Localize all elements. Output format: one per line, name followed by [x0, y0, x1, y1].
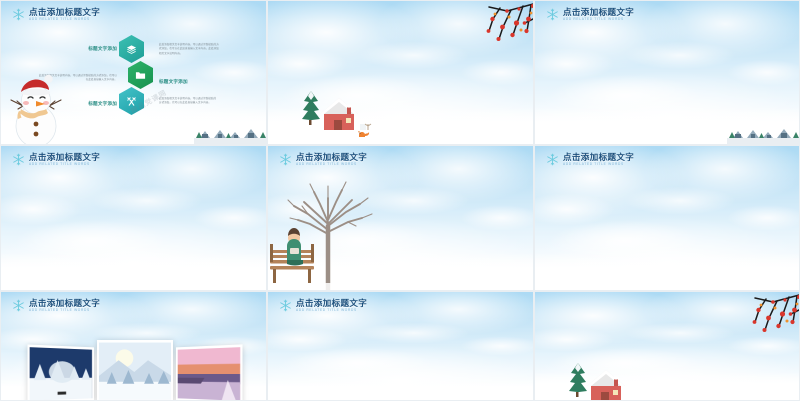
- slide-header-subtitle: ADD RELATED TITLE WORDS: [29, 309, 100, 312]
- slide-header: 点击添加标题文字 ADD RELATED TITLE WORDS: [546, 153, 634, 166]
- slide-header-title: 点击添加标题文字: [296, 153, 367, 162]
- hexagon-label-2: 标题文字添加: [159, 79, 217, 85]
- slide-header-subtitle: ADD RELATED TITLE WORDS: [29, 163, 100, 166]
- slide-thumbnail-9-section-four[interactable]: 第四部份 标题文字添加 添加相关文字说明，可以直接复制粘贴修改此处的文字描述内容…: [534, 291, 800, 401]
- snowflake-icon: [12, 299, 25, 312]
- slide-header: 点击添加标题文字 ADD RELATED TITLE WORDS: [12, 299, 100, 312]
- slide-header-title: 点击添加标题文字: [296, 299, 367, 308]
- snowflake-icon: [279, 299, 292, 312]
- snow-cottage-illustration: [286, 76, 376, 136]
- slide-header-subtitle: ADD RELATED TITLE WORDS: [563, 18, 634, 21]
- hexagon-label-3: 标题文字添加: [73, 101, 117, 107]
- snowflake-icon: [12, 153, 25, 166]
- slide-header: 点击添加标题文字 ADD RELATED TITLE WORDS: [12, 153, 100, 166]
- snow-cottage-illustration: [553, 348, 643, 401]
- slide-thumbnail-grid: 点击添加标题文字 ADD RELATED TITLE WORDS 标题文字添加 …: [0, 0, 800, 401]
- slide-thumbnail-4-bubbles[interactable]: 点击添加标题文字 ADD RELATED TITLE WORDS 单击此处添加标…: [0, 145, 267, 291]
- hexagon-text-3: 此处添加相关文字说明内容，可以通过复制粘贴的方式添加，也可以在此处直接输入文字内…: [159, 97, 217, 106]
- slide-thumbnail-7-photos[interactable]: 点击添加标题文字 ADD RELATED TITLE WORDS: [0, 291, 267, 401]
- snow-floor: [1, 253, 266, 290]
- photo-panel-snow-mountain[interactable]: [97, 340, 174, 401]
- snowflake-icon: [546, 153, 559, 166]
- slide-header-title: 点击添加标题文字: [29, 299, 100, 308]
- slide-thumbnail-2-section-three[interactable]: 第三部份 标题文字添加 添加相关文字说明，可以直接复制粘贴修改此处的文字描述内容…: [267, 0, 534, 145]
- plum-blossom-branch: [445, 0, 534, 55]
- village-silhouette: [194, 118, 266, 144]
- plum-blossom-branch: [711, 291, 800, 346]
- slide-thumbnail-8-icon-quad[interactable]: 点击添加标题文字 ADD RELATED TITLE WORDS 标题文字 单击…: [267, 291, 534, 401]
- tools-icon: [126, 96, 137, 107]
- slide-header-subtitle: ADD RELATED TITLE WORDS: [296, 163, 367, 166]
- photo-panel-snow-forest[interactable]: [27, 344, 93, 401]
- slide-thumbnail-5-mosaic[interactable]: 点击添加标题文字 ADD RELATED TITLE WORDS: [267, 145, 534, 291]
- layers-icon: [126, 44, 137, 55]
- slide-header-subtitle: ADD RELATED TITLE WORDS: [29, 18, 100, 21]
- slide-header-subtitle: ADD RELATED TITLE WORDS: [563, 163, 634, 166]
- folder-icon: [135, 70, 146, 81]
- snowflake-icon: [12, 8, 25, 21]
- snowflake-icon: [546, 8, 559, 21]
- slide-thumbnail-1-hexagons[interactable]: 点击添加标题文字 ADD RELATED TITLE WORDS 标题文字添加 …: [0, 0, 267, 145]
- slide-header-title: 点击添加标题文字: [563, 153, 634, 162]
- snow-floor: [535, 253, 799, 290]
- slide-header: 点击添加标题文字 ADD RELATED TITLE WORDS: [279, 299, 367, 312]
- hexagon-item-2[interactable]: [128, 61, 153, 89]
- slide-header: 点击添加标题文字 ADD RELATED TITLE WORDS: [12, 8, 100, 21]
- tree-and-bench-illustration: [267, 172, 394, 290]
- village-silhouette: [727, 118, 799, 144]
- slide-header-title: 点击添加标题文字: [29, 8, 100, 17]
- folded-photo-strip: [28, 340, 242, 401]
- photo-panel-sunset-ice[interactable]: [176, 344, 242, 401]
- hexagon-column: [119, 37, 153, 113]
- slide-header-subtitle: ADD RELATED TITLE WORDS: [296, 309, 367, 312]
- hexagon-item-3[interactable]: [119, 87, 144, 115]
- fox-illustration: [356, 129, 370, 138]
- slide-header-title: 点击添加标题文字: [563, 8, 634, 17]
- slide-thumbnail-3-petals[interactable]: 点击添加标题文字 ADD RELATED TITLE WORDS 此处填写内容 …: [534, 0, 800, 145]
- slide-header: 点击添加标题文字 ADD RELATED TITLE WORDS: [546, 8, 634, 21]
- pine-tree: [569, 363, 587, 397]
- hexagon-text-1: 此处添加相关文字说明内容，可以通过复制粘贴的方式添加，也可以在此处直接输入文字内…: [159, 43, 219, 56]
- slide-header-title: 点击添加标题文字: [29, 153, 100, 162]
- hexagon-item-1[interactable]: [119, 35, 144, 63]
- hexagon-label-1: 标题文字添加: [73, 46, 117, 52]
- seated-person: [287, 228, 303, 266]
- slide-thumbnail-6-hands[interactable]: 点击添加标题文字 ADD RELATED TITLE WORDS 标题文本添加 …: [534, 145, 800, 291]
- snowman-illustration: [7, 62, 65, 145]
- pine-tree: [302, 91, 320, 125]
- snowflake-icon: [279, 153, 292, 166]
- slide-header: 点击添加标题文字 ADD RELATED TITLE WORDS: [279, 153, 367, 166]
